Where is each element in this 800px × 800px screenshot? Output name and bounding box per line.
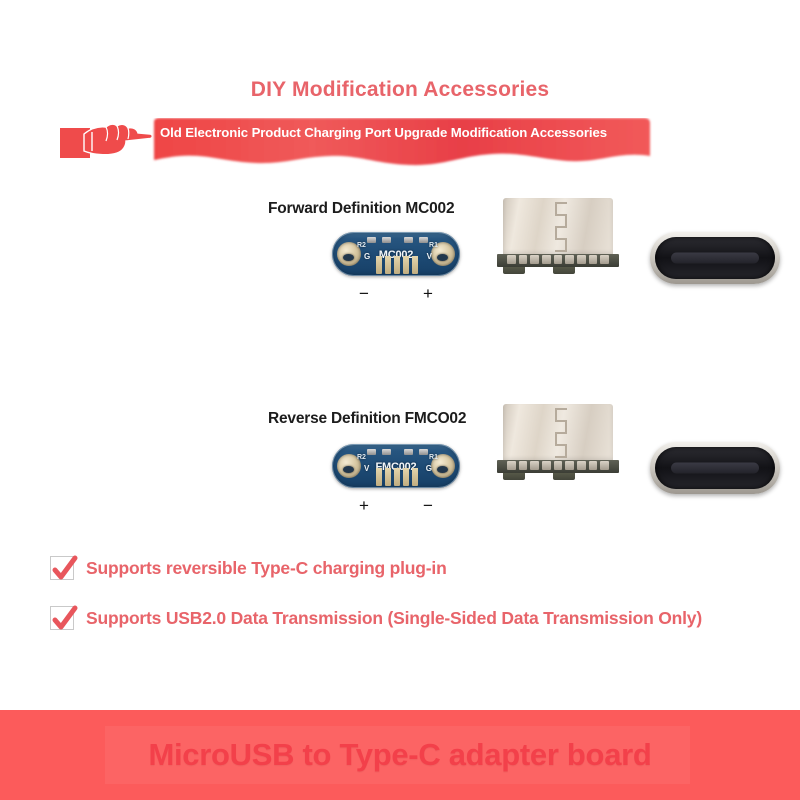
type-c-connector-side-view (497, 404, 619, 482)
type-c-connector-front-view (650, 232, 780, 284)
polarity-left: − (359, 284, 369, 304)
checkmark-glyph (49, 604, 79, 634)
pcb-smd-component (419, 449, 428, 455)
connector-tongue (671, 463, 759, 474)
connector-mount-foot (503, 267, 525, 274)
type-c-connector-front-view (650, 442, 780, 494)
pcb-ref-right: R1 (429, 454, 438, 461)
connector-port-opening (655, 237, 775, 279)
connector-metal-shell (503, 198, 613, 256)
pcb-ref-left: R2 (357, 454, 366, 461)
feature-label-2: Supports USB2.0 Data Transmission (Singl… (86, 608, 702, 629)
ribbon-banner: Old Electronic Product Charging Port Upg… (148, 118, 656, 170)
pcb-ref-left: R2 (357, 242, 366, 249)
type-c-connector-side-view (497, 198, 619, 276)
product-label-forward: Forward Definition MC002 (268, 200, 454, 218)
checkmark-icon (50, 606, 74, 630)
polarity-left: + (359, 496, 369, 516)
polarity-markers-reverse: + − (332, 496, 460, 516)
pcb-smd-component (404, 237, 413, 243)
connector-port-opening (655, 447, 775, 489)
pointing-hand-icon (60, 118, 152, 166)
footer-banner: MicroUSB to Type-C adapter board (0, 710, 800, 800)
connector-tongue (671, 253, 759, 264)
connector-mount-foot (553, 267, 575, 274)
product-label-reverse: Reverse Definition FMCO02 (268, 410, 466, 428)
product-infographic: DIY Modification Accessories (0, 0, 800, 800)
pcb-contact-fingers (376, 256, 418, 274)
checkmark-icon (50, 556, 74, 580)
ribbon-label: Old Electronic Product Charging Port Upg… (160, 124, 644, 142)
pcb-smd-component (367, 449, 376, 455)
hand-glyph (82, 120, 154, 164)
connector-mount-foot (503, 473, 525, 480)
polarity-markers-forward: − + (332, 284, 460, 304)
pcb-smd-component (404, 449, 413, 455)
pcb-board-forward: R2 R1 G V MC002 (332, 232, 460, 276)
connector-metal-shell (503, 404, 613, 462)
feature-item-2: Supports USB2.0 Data Transmission (Singl… (50, 606, 702, 630)
pcb-smd-component (382, 449, 391, 455)
pcb-contact-fingers (376, 468, 418, 486)
checkmark-glyph (49, 554, 79, 584)
connector-seam (555, 408, 567, 458)
footer-banner-label: MicroUSB to Type-C adapter board (148, 737, 651, 773)
page-title: DIY Modification Accessories (0, 78, 800, 102)
polarity-right: + (423, 284, 433, 304)
pcb-ref-right: R1 (429, 242, 438, 249)
connector-seam (555, 202, 567, 252)
connector-solder-pins (507, 255, 609, 264)
connector-mount-foot (553, 473, 575, 480)
pcb-board-reverse: R2 R1 V G FMC002 (332, 444, 460, 488)
connector-solder-pins (507, 461, 609, 470)
polarity-right: − (423, 496, 433, 516)
pcb-smd-component (382, 237, 391, 243)
feature-item-1: Supports reversible Type-C charging plug… (50, 556, 447, 580)
pcb-smd-component (367, 237, 376, 243)
feature-label-1: Supports reversible Type-C charging plug… (86, 558, 447, 579)
pcb-smd-component (419, 237, 428, 243)
